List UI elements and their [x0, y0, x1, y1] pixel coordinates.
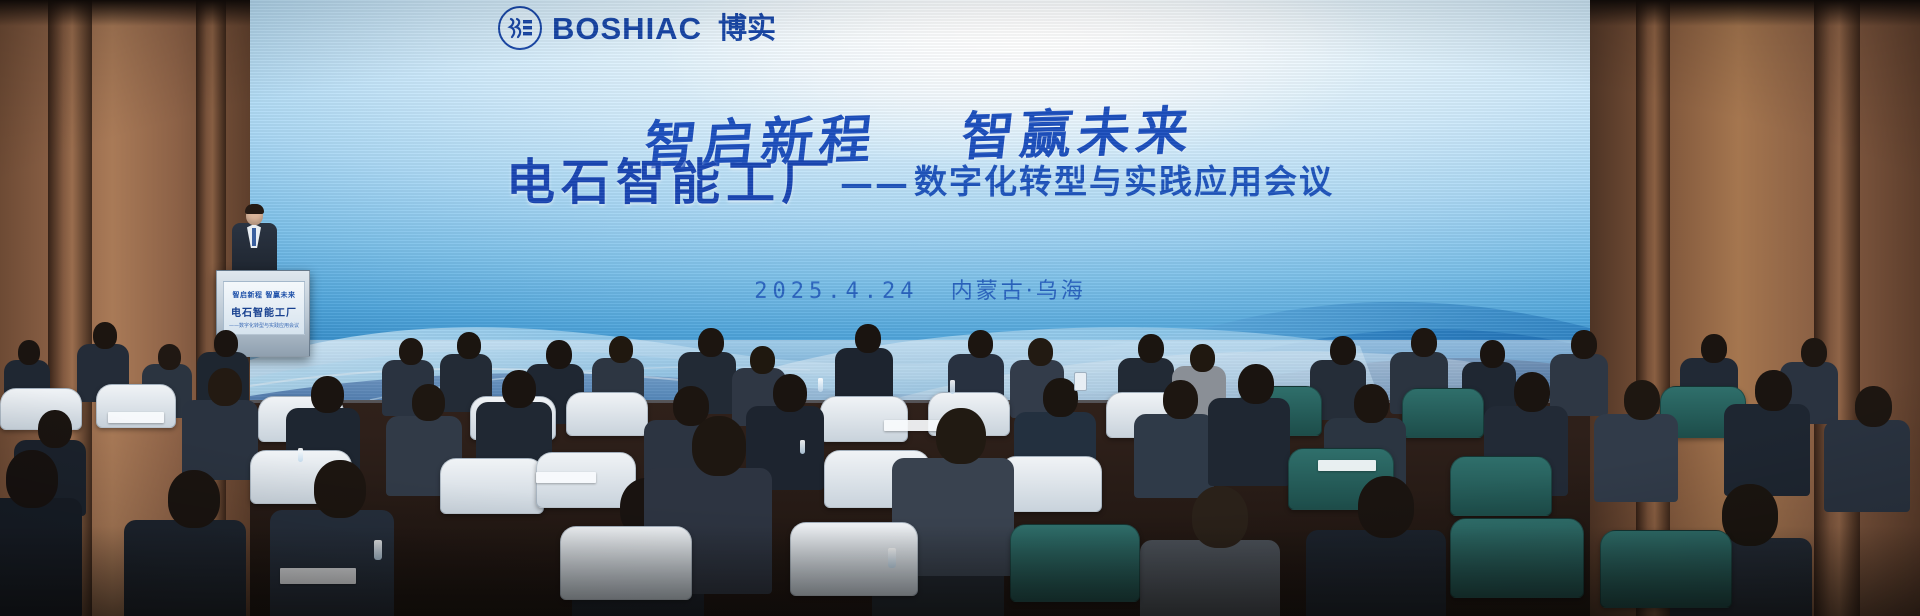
chair — [1000, 456, 1102, 512]
attendee-head — [1043, 378, 1078, 417]
chair — [1402, 388, 1484, 438]
event-title-block: 电石智能工厂 —— 数字化转型与实践应用会议 — [250, 155, 1590, 208]
chair — [566, 392, 648, 436]
speaker-tie — [252, 228, 256, 246]
boshiac-emblem-icon — [498, 6, 542, 50]
attendee-body — [1140, 540, 1280, 616]
attendee-body — [0, 498, 82, 616]
attendee-body — [1824, 420, 1910, 512]
attendee-head — [1514, 372, 1550, 412]
logo-chinese-text: 博实 — [718, 14, 776, 43]
attendee-head — [750, 346, 775, 374]
water-bottle — [374, 540, 382, 560]
attendee-head — [1163, 380, 1198, 419]
attendee-head — [214, 330, 238, 357]
attendee-head — [399, 338, 423, 365]
attendee-head — [546, 340, 572, 369]
attendee-body — [1724, 404, 1810, 496]
name-card — [1318, 460, 1376, 471]
chair — [1600, 530, 1732, 608]
audience-area — [0, 300, 1920, 616]
attendee-head — [692, 416, 746, 476]
chair — [560, 526, 692, 600]
attendee-head — [311, 376, 344, 413]
event-title-dash: —— — [840, 164, 910, 208]
logo-english-text: BOSHIAC — [552, 13, 702, 44]
event-title-main: 电石智能工厂 — [506, 157, 836, 208]
attendee-head — [968, 330, 993, 358]
speaker-figure — [228, 205, 280, 277]
attendee-head — [208, 368, 242, 406]
chair — [1010, 524, 1140, 602]
attendee-head — [18, 340, 40, 365]
attendee-body — [1306, 530, 1446, 616]
attendee-body — [182, 400, 258, 480]
attendee-head — [502, 370, 536, 408]
name-card — [280, 568, 356, 584]
attendee-head — [1190, 344, 1215, 372]
attendee-head — [168, 470, 220, 528]
attendee-head — [1722, 484, 1778, 546]
water-bottle — [888, 548, 896, 568]
attendee-head — [1755, 370, 1792, 411]
attendee-head — [1855, 386, 1892, 427]
attendee-head — [412, 384, 445, 421]
attendee-head — [609, 336, 633, 363]
lectern-slogan: 智启新程 智赢未来 — [224, 290, 304, 300]
attendee-head — [457, 332, 481, 359]
name-card — [536, 472, 596, 483]
attendee-body — [1134, 414, 1214, 498]
attendee-head — [314, 460, 366, 518]
attendee-body — [270, 510, 394, 616]
name-card — [884, 420, 940, 431]
attendee-head — [698, 328, 724, 357]
attendee-head — [1138, 334, 1164, 363]
attendee-head — [936, 408, 986, 464]
attendee-body — [1594, 414, 1678, 502]
attendee-head — [1192, 486, 1248, 548]
chair — [1450, 456, 1552, 516]
chair — [790, 522, 918, 596]
attendee-head — [1801, 338, 1827, 367]
speaker-hair — [245, 204, 264, 214]
attendee-head — [1358, 476, 1414, 538]
chair — [440, 458, 544, 514]
water-bottle — [950, 380, 955, 394]
attendee-body — [124, 520, 246, 616]
water-bottle — [298, 448, 303, 462]
attendee-head — [6, 450, 58, 508]
phone-icon — [1074, 372, 1087, 391]
attendee-head — [1701, 334, 1727, 363]
attendee-head — [1330, 336, 1356, 365]
attendee-head — [855, 324, 881, 353]
attendee-head — [38, 410, 72, 448]
attendee-head — [1238, 364, 1274, 404]
water-bottle — [818, 378, 823, 392]
water-bottle — [800, 440, 805, 454]
conference-photo: BOSHIAC 博实 智启新程 智赢未来 电石智能工厂 —— 数字化转型与实践应… — [0, 0, 1920, 616]
attendee-head — [1411, 328, 1437, 357]
attendee-head — [1354, 384, 1389, 423]
attendee-head — [1028, 338, 1053, 366]
name-card — [108, 412, 164, 423]
attendee-head — [158, 344, 181, 370]
attendee-body — [1208, 398, 1290, 486]
chair — [820, 396, 908, 442]
event-title-sub: 数字化转型与实践应用会议 — [914, 155, 1334, 208]
chair — [1450, 518, 1584, 598]
boshiac-logo: BOSHIAC 博实 — [498, 6, 776, 50]
attendee-head — [773, 374, 807, 412]
attendee-head — [1480, 340, 1505, 368]
attendee-head — [1624, 380, 1660, 420]
attendee-head — [93, 322, 117, 349]
attendee-head — [1571, 330, 1597, 359]
